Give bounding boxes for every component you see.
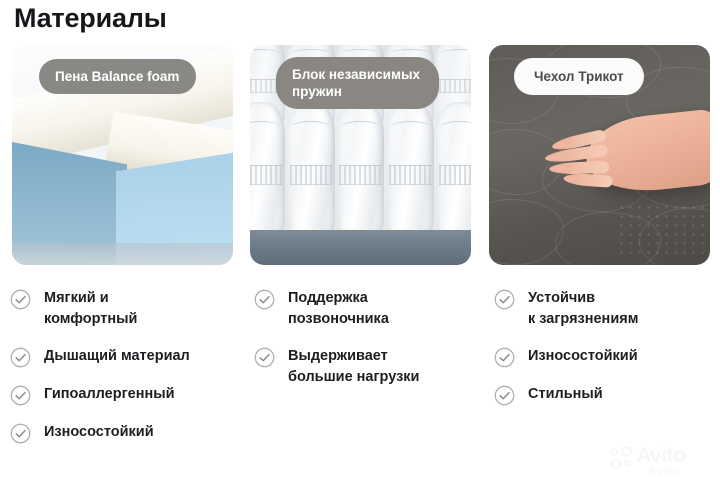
list-item: Гипоаллергенный [10, 384, 245, 406]
materials-card-row: Пена Balance foam Блок независимых пружи… [0, 45, 720, 267]
list-item: Стильный [494, 384, 720, 406]
check-circle-icon [254, 289, 275, 310]
material-badge-springs: Блок независимых пружин [276, 57, 439, 109]
check-circle-icon [10, 347, 31, 368]
feature-label: Выдерживает большие нагрузки [288, 346, 419, 388]
material-card-foam[interactable]: Пена Balance foam [12, 45, 233, 265]
feature-label: Устойчив к загрязнениям [528, 288, 638, 330]
check-circle-icon [254, 347, 275, 368]
check-circle-icon [494, 385, 515, 406]
page-title: Материалы [14, 2, 167, 34]
material-card-cover[interactable]: Чехол Трикот [489, 45, 710, 265]
check-circle-icon [494, 289, 515, 310]
list-item: Устойчив к загрязнениям [494, 288, 720, 330]
list-item: Износостойкий [10, 422, 245, 444]
check-circle-icon [10, 385, 31, 406]
check-circle-icon [10, 423, 31, 444]
feature-label: Стильный [528, 384, 603, 405]
materials-page: Материалы Пена Balance foam [0, 0, 720, 484]
feature-column-springs: Поддержка позвоночника Выдерживает больш… [254, 288, 489, 404]
feature-label: Износостойкий [44, 422, 154, 443]
feature-column-foam: Мягкий и комфортный Дышащий материал Гип… [10, 288, 245, 460]
feature-label: Дышащий материал [44, 346, 190, 367]
material-badge-foam: Пена Balance foam [39, 59, 196, 94]
feature-column-cover: Устойчив к загрязнениям Износостойкий Ст… [494, 288, 720, 422]
check-circle-icon [494, 347, 515, 368]
feature-label: Гипоаллергенный [44, 384, 175, 405]
list-item: Мягкий и комфортный [10, 288, 245, 330]
feature-label: Мягкий и комфортный [44, 288, 137, 330]
material-badge-cover: Чехол Трикот [514, 58, 644, 95]
features-section: Мягкий и комфортный Дышащий материал Гип… [0, 288, 720, 468]
list-item: Износостойкий [494, 346, 720, 368]
list-item: Дышащий материал [10, 346, 245, 368]
list-item: Выдерживает большие нагрузки [254, 346, 489, 388]
feature-label: Износостойкий [528, 346, 638, 367]
material-card-springs[interactable]: Блок независимых пружин [250, 45, 471, 265]
list-item: Поддержка позвоночника [254, 288, 489, 330]
check-circle-icon [10, 289, 31, 310]
feature-label: Поддержка позвоночника [288, 288, 389, 330]
